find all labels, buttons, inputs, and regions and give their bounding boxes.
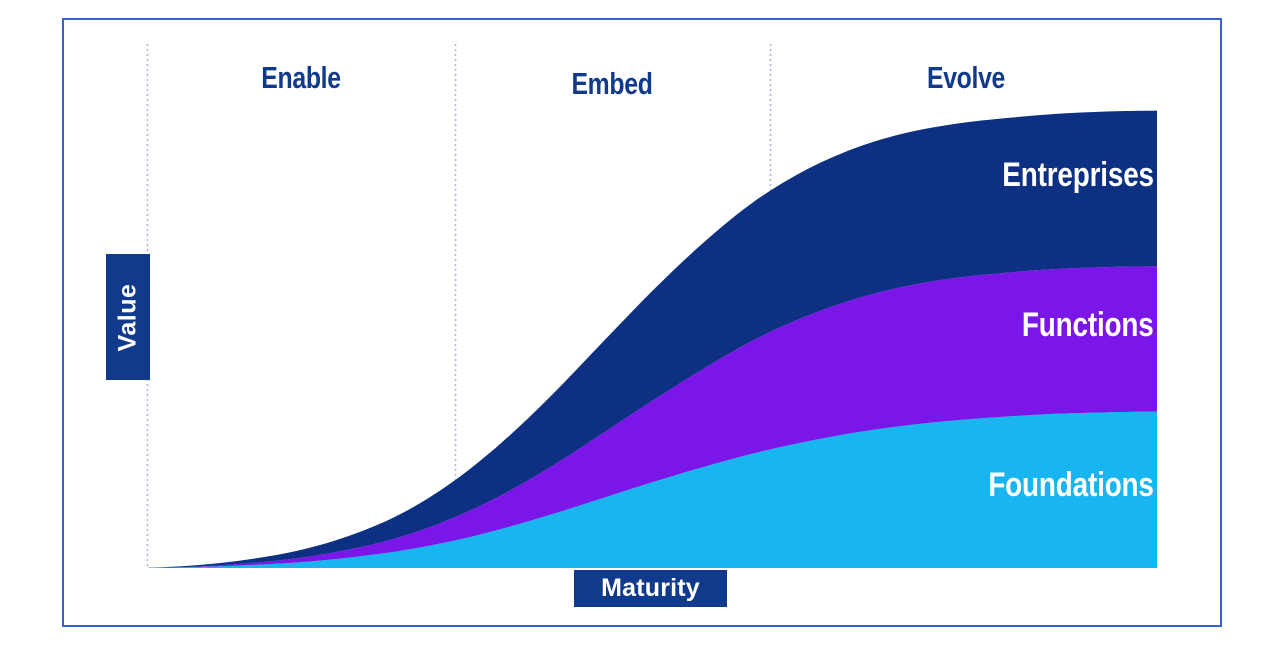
series-label-entreprises: Entreprises <box>1002 156 1154 195</box>
slide-canvas: Enable Embed Evolve Entreprises Function… <box>0 0 1280 645</box>
y-axis-title-text: Value <box>114 283 143 351</box>
y-axis-title-chip: Value <box>106 254 150 380</box>
x-axis-title-text: Maturity <box>601 574 700 603</box>
phase-label-evolve: Evolve <box>886 60 1046 96</box>
series-label-foundations: Foundations <box>989 466 1154 505</box>
phase-label-embed: Embed <box>532 66 692 102</box>
x-axis-title-chip: Maturity <box>574 570 727 607</box>
series-label-functions: Functions <box>1022 306 1154 345</box>
phase-label-enable: Enable <box>221 60 381 96</box>
